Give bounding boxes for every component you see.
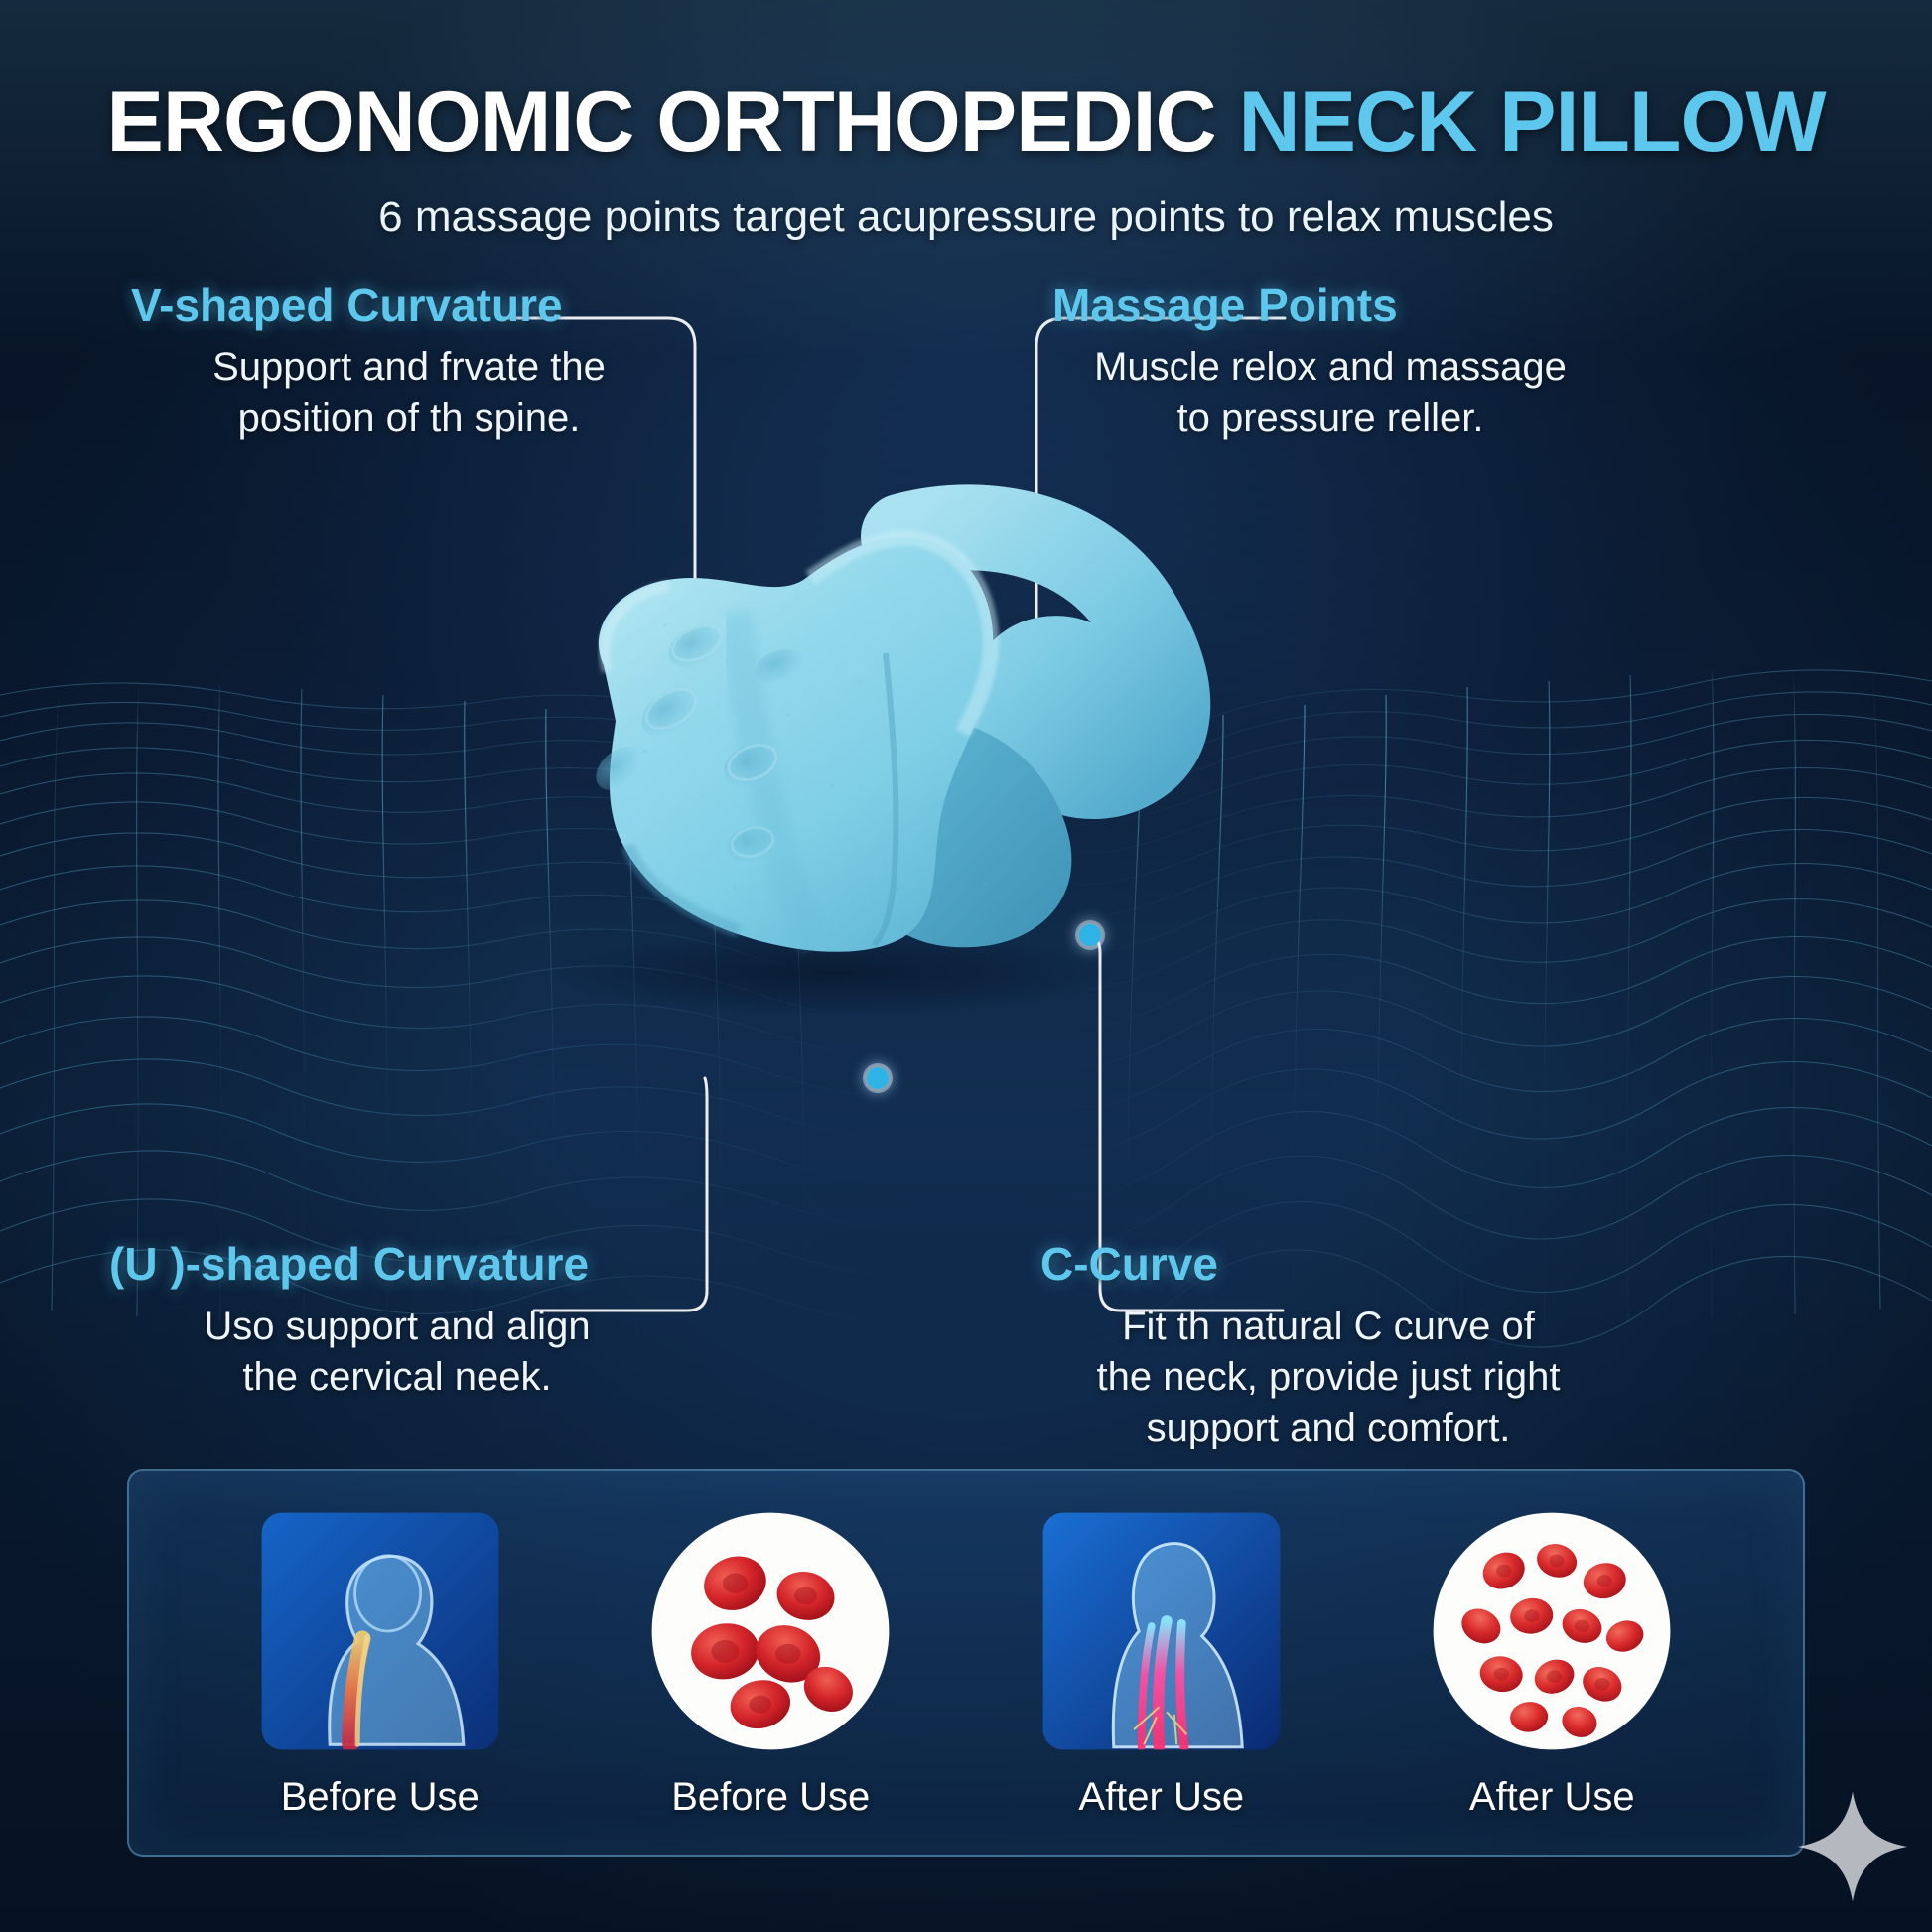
callout-title: V-shaped Curvature: [131, 280, 687, 331]
comparison-cell: After Use: [1403, 1505, 1701, 1820]
callout-title: Massage Points: [1052, 280, 1608, 331]
flowing-blood-cells-icon: [1421, 1505, 1683, 1757]
title-primary: ERGONOMIC ORTHOPEDIC: [106, 74, 1215, 170]
cell-label: Before Use: [621, 1775, 919, 1820]
page-title: ERGONOMIC ORTHOPEDIC NECK PILLOW: [0, 77, 1932, 167]
callout-title: (U )-shaped Curvature: [109, 1239, 685, 1290]
callout-body: Fit th natural C curve of the neck, prov…: [1040, 1302, 1616, 1454]
callout-c-curve: C-Curve Fit th natural C curve of the ne…: [1040, 1239, 1616, 1453]
infographic-canvas: ERGONOMIC ORTHOPEDIC NECK PILLOW 6 massa…: [0, 0, 1932, 1932]
neck-pillow-foam-icon: [437, 417, 1231, 1013]
callout-body: Support and frvate the position of th sp…: [131, 343, 687, 444]
title-accent: NECK PILLOW: [1239, 74, 1826, 170]
xray-back-relaxed-icon: [1031, 1505, 1293, 1757]
four-point-sparkle-icon: [1793, 1787, 1912, 1906]
page-subtitle: 6 massage points target acupressure poin…: [0, 193, 1932, 242]
comparison-cell: After Use: [1013, 1505, 1311, 1820]
callout-body: Muscle relox and massage to pressure rel…: [1052, 343, 1608, 444]
cell-label: Before Use: [231, 1775, 529, 1820]
comparison-cell: Before Use: [231, 1505, 529, 1820]
clumped-blood-cells-icon: [639, 1505, 901, 1757]
cell-label: After Use: [1403, 1775, 1701, 1820]
comparison-panel: Before Use: [127, 1469, 1805, 1857]
callout-v-shaped-curvature: V-shaped Curvature Support and frvate th…: [131, 280, 687, 444]
header: ERGONOMIC ORTHOPEDIC NECK PILLOW 6 massa…: [0, 77, 1932, 242]
comparison-cell: Before Use: [621, 1505, 919, 1820]
cell-label: After Use: [1013, 1775, 1311, 1820]
callout-u-shaped-curvature: (U )-shaped Curvature Uso support and al…: [109, 1239, 685, 1403]
callout-title: C-Curve: [1040, 1239, 1616, 1290]
xray-torso-inflamed-icon: [249, 1505, 511, 1757]
callout-body: Uso support and align the cervical neek.: [109, 1302, 685, 1403]
callout-massage-points: Massage Points Muscle relox and massage …: [1052, 280, 1608, 444]
